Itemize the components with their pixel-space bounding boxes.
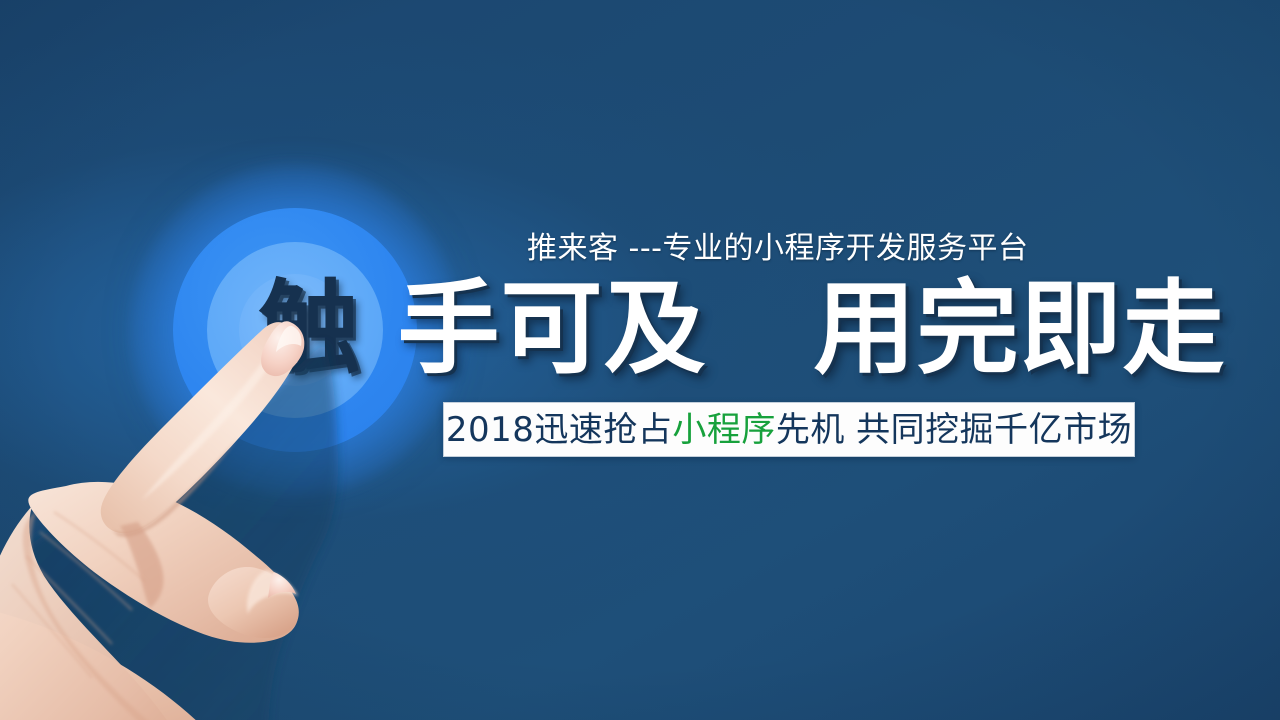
subheadline-text: 2018迅速抢占小程序先机 共同挖掘千亿市场	[446, 413, 1132, 447]
headline-part-one: 手可及	[398, 270, 707, 389]
headline-part-two: 用完即走	[814, 270, 1226, 389]
subheadline-lead: 2018迅速抢占	[446, 410, 673, 450]
pointing-hand-graphic	[0, 300, 390, 720]
subheadline-bar: 2018迅速抢占小程序先机 共同挖掘千亿市场	[443, 402, 1135, 457]
tagline: 推来客 ---专业的小程序开发服务平台	[527, 234, 1029, 264]
subheadline-trail: 先机 共同挖掘千亿市场	[776, 410, 1132, 450]
promo-banner: 推来客 ---专业的小程序开发服务平台 触 手可及 用完即走	[0, 0, 1280, 720]
subheadline-accent: 小程序	[672, 410, 776, 450]
headline: 触 手可及 用完即走	[258, 276, 1226, 384]
